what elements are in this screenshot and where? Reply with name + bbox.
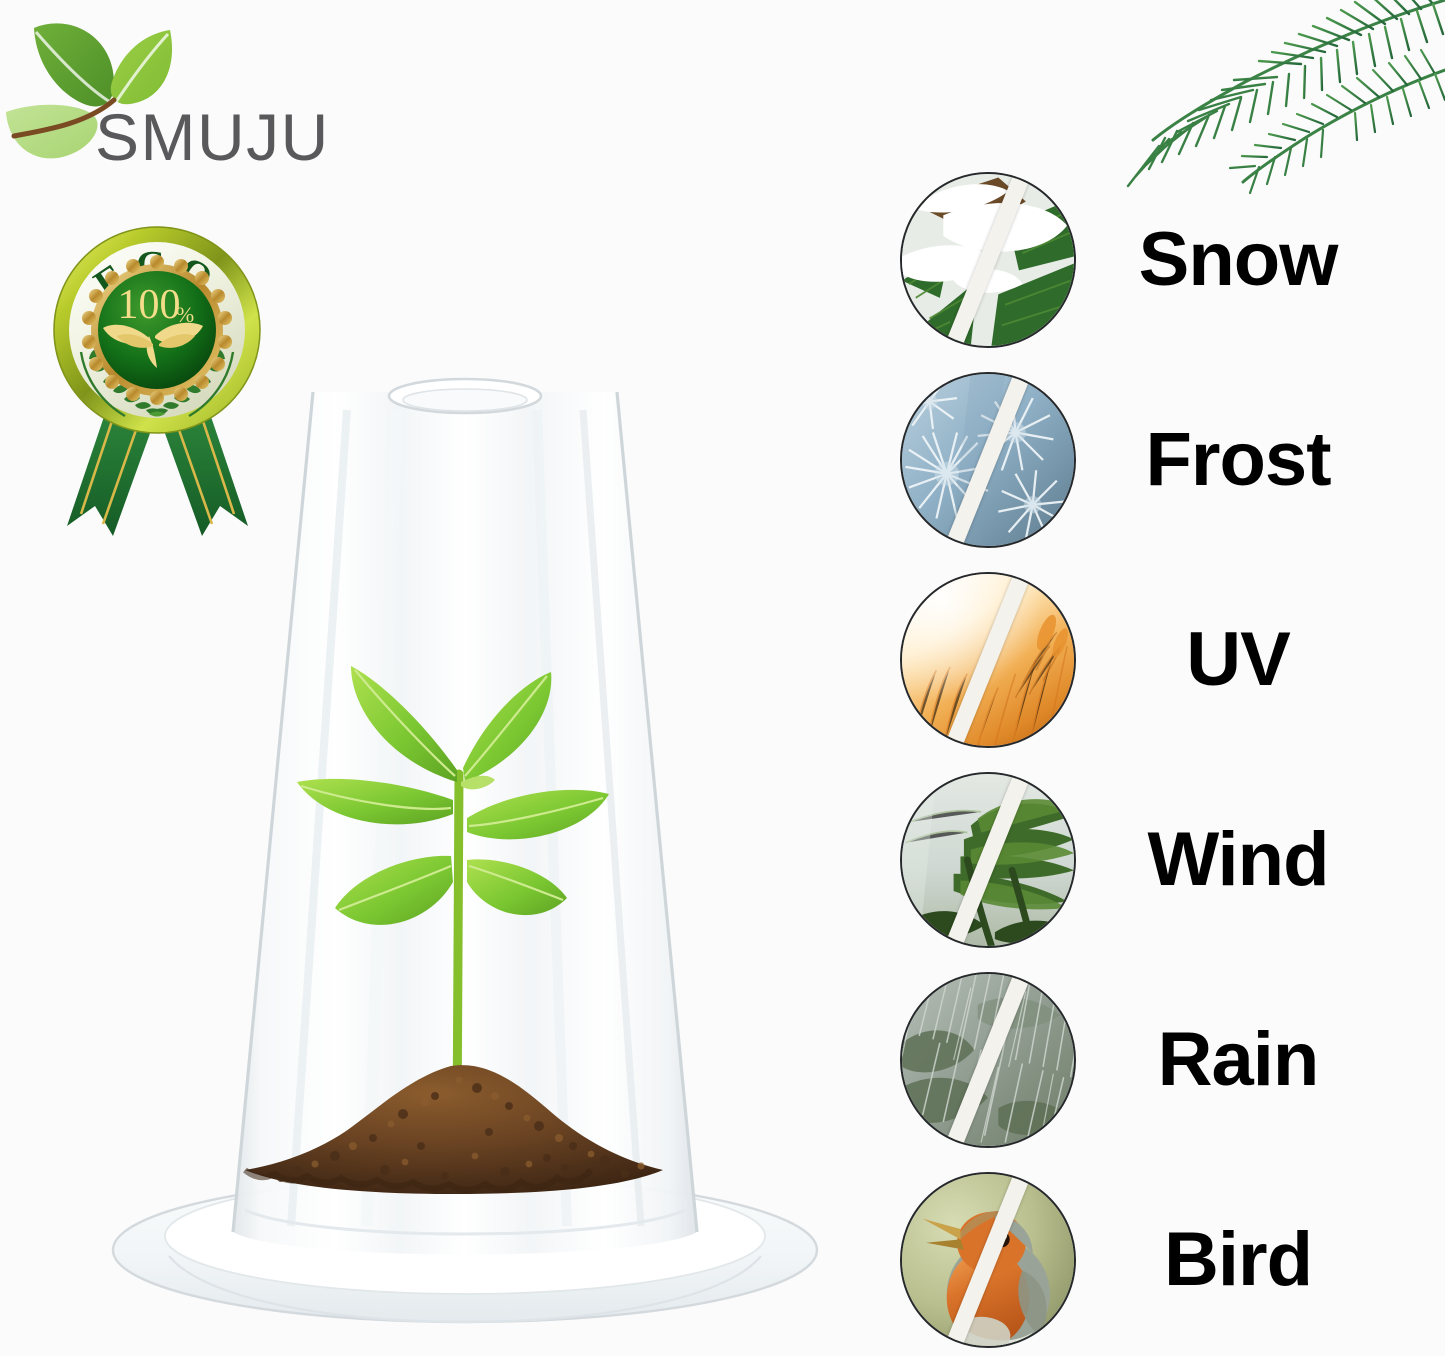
feature-label-uv: UV <box>1186 622 1290 698</box>
feature-label-snow: Snow <box>1139 222 1338 298</box>
feature-row-snow: Snow <box>900 170 1400 350</box>
leaf-dark-green <box>34 23 114 106</box>
frost-crystals-icon <box>900 372 1076 548</box>
rain-downpour-icon <box>900 972 1076 1148</box>
leaf-pale-green <box>6 105 98 159</box>
feature-row-frost: Frost <box>900 370 1400 550</box>
feature-label-frost: Frost <box>1146 422 1331 498</box>
wind-palm-trees-icon <box>900 772 1076 948</box>
feature-label-bird: Bird <box>1164 1222 1312 1298</box>
protection-feature-list: Snow <box>900 170 1400 1350</box>
uv-sun-glare-icon <box>900 572 1076 748</box>
badge-percent-number: 100 <box>118 282 181 328</box>
feature-row-uv: UV <box>900 570 1400 750</box>
product-marketing-image: SMUJU <box>0 0 1445 1356</box>
feature-row-rain: Rain <box>900 970 1400 1150</box>
brand-logo: SMUJU <box>0 8 360 173</box>
robin-bird-icon <box>900 1172 1076 1348</box>
feature-row-bird: Bird <box>900 1170 1400 1350</box>
feature-label-rain: Rain <box>1158 1022 1319 1098</box>
glass-cloche-plant-cover <box>85 370 845 1330</box>
cloche-top-vent-opening <box>389 379 541 413</box>
feature-row-wind: Wind <box>900 770 1400 950</box>
feature-label-wind: Wind <box>1147 822 1328 898</box>
snow-on-pine-icon <box>900 172 1076 348</box>
brand-name: SMUJU <box>95 104 330 170</box>
